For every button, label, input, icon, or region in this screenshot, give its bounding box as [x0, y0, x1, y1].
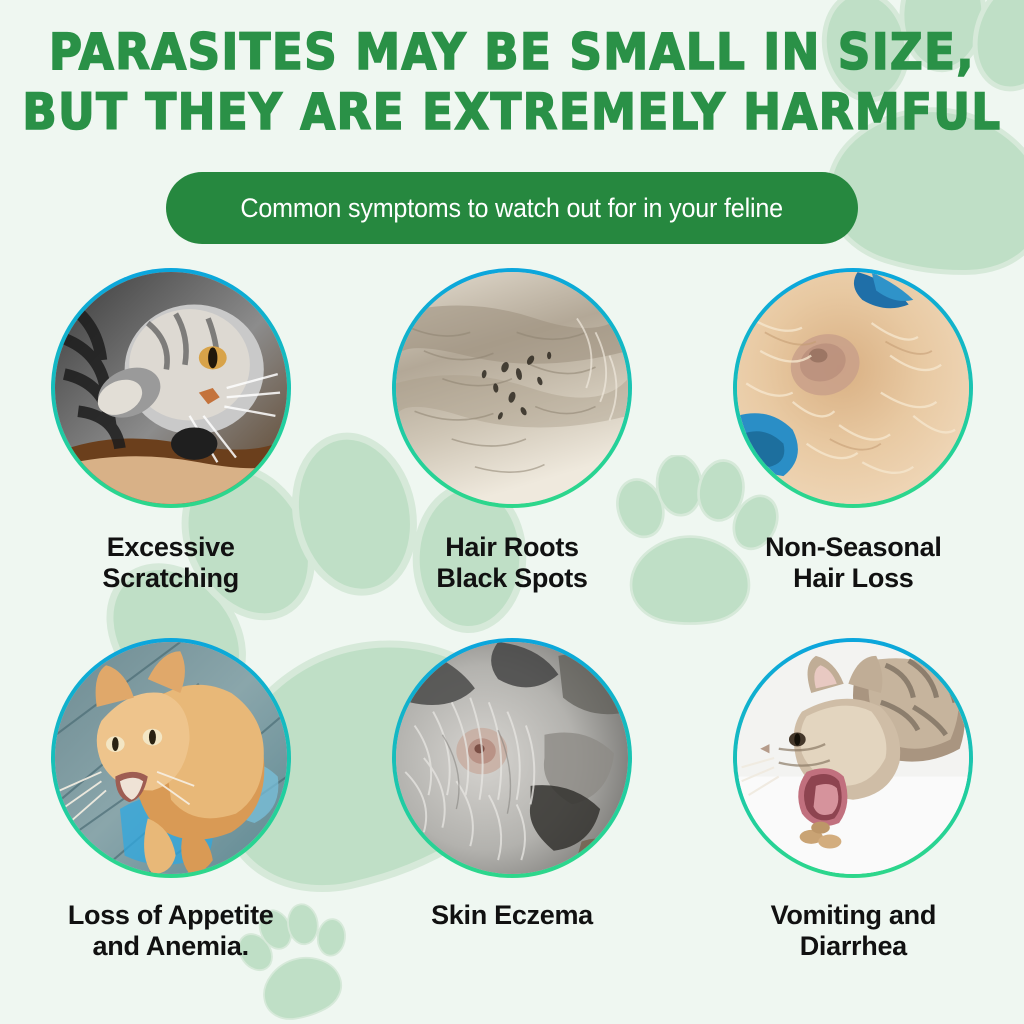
symptom-photo-ring [51, 638, 291, 878]
symptom-photo-vomiting-and-diarrhea [737, 642, 969, 874]
subtitle-pill-label: Common symptoms to watch out for in your… [241, 193, 784, 224]
symptom-caption: Excessive Scratching [102, 532, 239, 594]
symptom-photo-ring [733, 268, 973, 508]
symptom-photo-skin-eczema [396, 642, 628, 874]
symptom-card-skin-eczema: Skin Eczema [341, 638, 682, 1008]
symptom-card-excessive-scratching: Excessive Scratching [0, 268, 341, 638]
symptom-card-loss-of-appetite-and-anemia: Loss of Appetite and Anemia. [0, 638, 341, 1008]
symptom-photo-ring [392, 268, 632, 508]
symptom-photo-excessive-scratching [55, 272, 287, 504]
symptom-photo-hair-roots-black-spots [396, 272, 628, 504]
symptom-grid: Excessive Scratching [0, 268, 1024, 1008]
symptom-photo-loss-of-appetite-and-anemia [55, 642, 287, 874]
page-title: PARASITES MAY BE SMALL IN SIZE, BUT THEY… [0, 22, 1024, 142]
symptom-card-vomiting-and-diarrhea: Vomiting and Diarrhea [683, 638, 1024, 1008]
symptom-card-non-seasonal-hair-loss: Non-Seasonal Hair Loss [683, 268, 1024, 638]
symptom-caption: Skin Eczema [431, 900, 593, 931]
symptom-card-hair-roots-black-spots: Hair Roots Black Spots [341, 268, 682, 638]
symptom-caption: Non-Seasonal Hair Loss [765, 532, 941, 594]
symptom-caption: Loss of Appetite and Anemia. [68, 900, 274, 962]
symptom-caption: Hair Roots Black Spots [436, 532, 587, 594]
symptom-photo-ring [392, 638, 632, 878]
page-title-line-1: PARASITES MAY BE SMALL IN SIZE, [0, 22, 1024, 82]
subtitle-pill: Common symptoms to watch out for in your… [166, 172, 858, 244]
page-title-line-2: BUT THEY ARE EXTREMELY HARMFUL [0, 82, 1024, 142]
symptom-photo-ring [733, 638, 973, 878]
symptom-photo-non-seasonal-hair-loss [737, 272, 969, 504]
symptom-caption: Vomiting and Diarrhea [771, 900, 936, 962]
symptom-photo-ring [51, 268, 291, 508]
